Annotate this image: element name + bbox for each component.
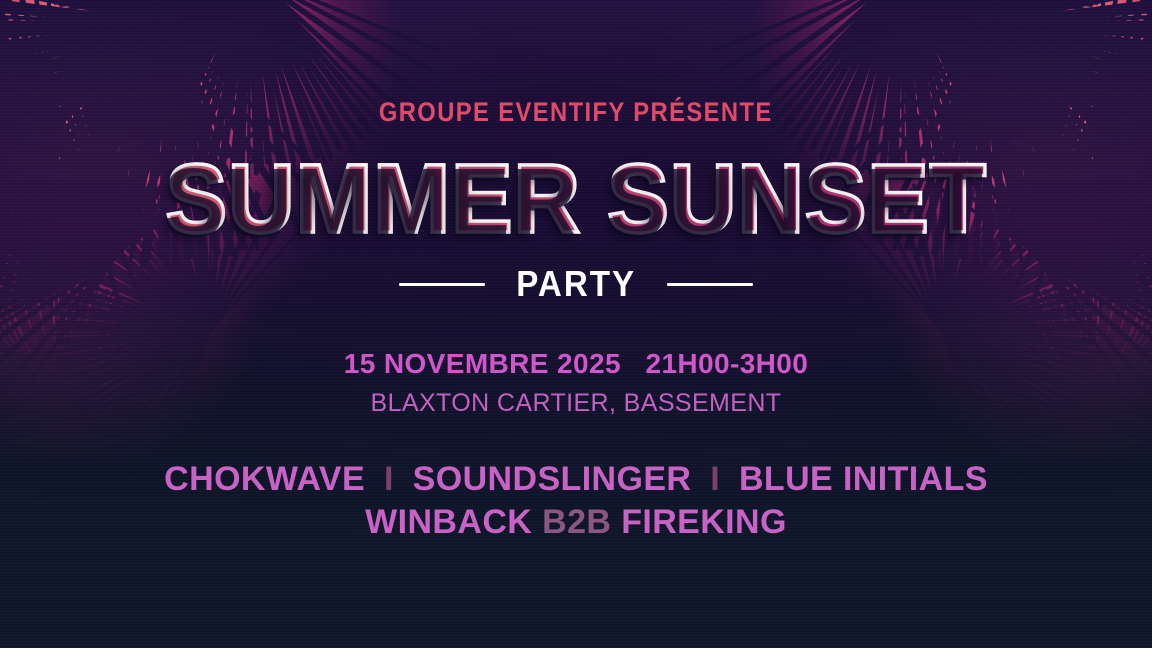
event-title: SUMMER SUNSET — [165, 150, 986, 247]
lineup-separator: I — [375, 460, 403, 498]
artist-name: FIREKING — [621, 503, 787, 541]
lineup-row-1: CHOKWAVE I SOUNDSLINGER I BLUE INITIALS — [164, 460, 988, 498]
artist-name: CHOKWAVE — [164, 460, 365, 498]
artist-name: WINBACK — [365, 503, 532, 541]
poster-content: GROUPE EVENTIFY PRÉSENTE SUMMER SUNSET P… — [0, 0, 1152, 648]
lineup: CHOKWAVE I SOUNDSLINGER I BLUE INITIALS … — [164, 460, 988, 541]
b2b-joiner: B2B — [542, 503, 621, 541]
presenter-line: GROUPE EVENTIFY PRÉSENTE — [379, 97, 773, 128]
subtitle-text: PARTY — [516, 263, 636, 305]
lineup-separator: I — [701, 460, 729, 498]
venue-line: BLAXTON CARTIER, BASSEMENT — [371, 389, 782, 418]
artist-name: BLUE INITIALS — [739, 460, 988, 498]
date-time-line: 15 NOVEMBRE 2025 21H00-3H00 — [344, 348, 809, 380]
artist-name: SOUNDSLINGER — [413, 460, 692, 498]
rule-right-icon — [667, 283, 753, 286]
lineup-row-2: WINBACK B2B FIREKING — [164, 503, 988, 541]
event-poster: GROUPE EVENTIFY PRÉSENTE SUMMER SUNSET P… — [0, 0, 1152, 648]
rule-left-icon — [399, 283, 485, 286]
subtitle-row: PARTY — [399, 263, 753, 305]
event-title-text: SUMMER SUNSET — [165, 144, 986, 253]
